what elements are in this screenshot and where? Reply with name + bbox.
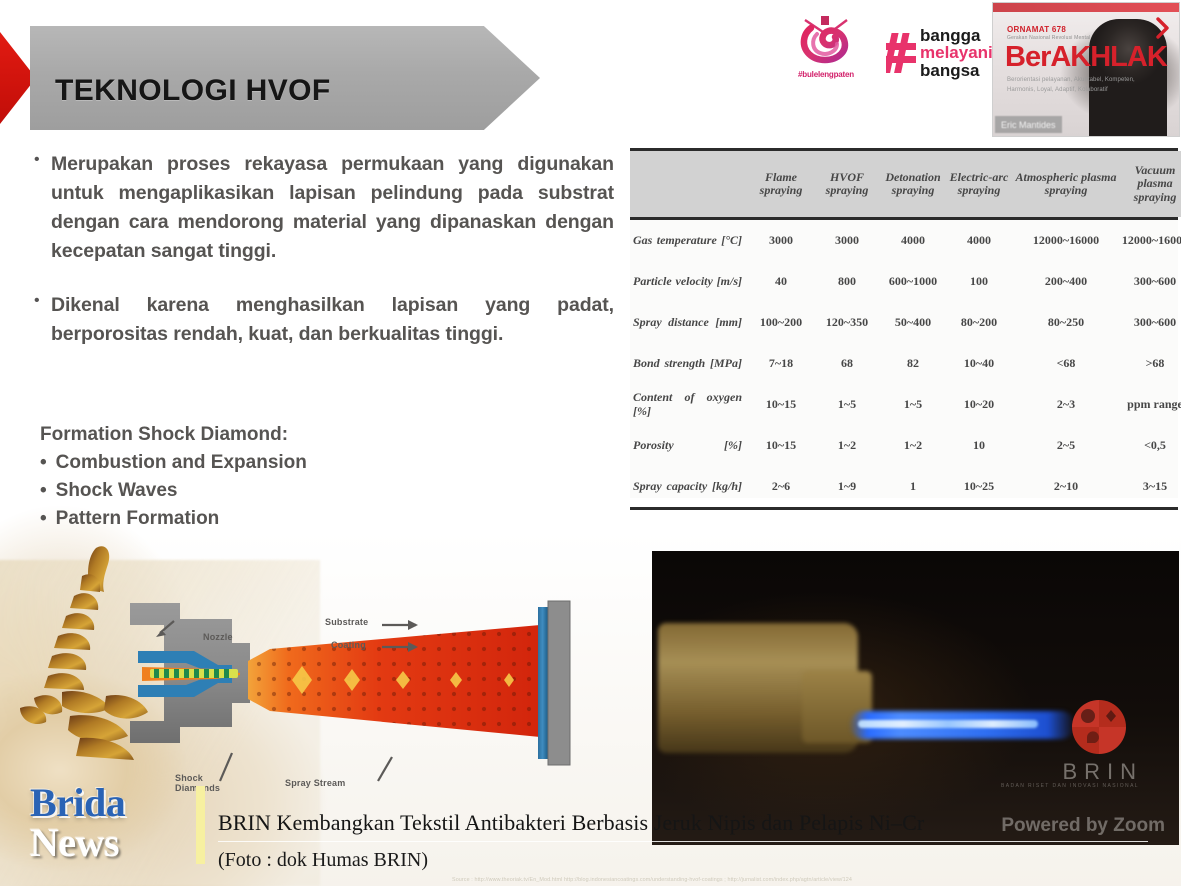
table-cell: 120~350 xyxy=(814,302,880,343)
page-title: TEKNOLOGI HVOF xyxy=(55,74,331,108)
table-header-row: Flame spraying HVOF spraying Detonation … xyxy=(630,151,1181,217)
shock-diamond-item: • Combustion and Expansion xyxy=(40,452,420,474)
table-row: Bond strength [MPa]7~18688210~40<68>68 xyxy=(630,343,1181,384)
col-header-blank xyxy=(630,151,748,217)
table-cell: 68 xyxy=(814,343,880,384)
table-cell: 4000 xyxy=(880,220,946,261)
table-cell: <68 xyxy=(1012,343,1120,384)
comparison-table: Flame spraying HVOF spraying Detonation … xyxy=(630,151,1181,217)
bangga-text-block: bangga melayani bangsa xyxy=(920,27,993,79)
col-header-detonation: Detonation spraying xyxy=(880,151,946,217)
brida-news-logo: Brida News xyxy=(30,784,190,864)
table-cell: 1~5 xyxy=(880,384,946,425)
col-header-atmospheric-plasma: Atmospheric plasma spraying xyxy=(1012,151,1120,217)
bullet-text: Merupakan proses rekayasa permukaan yang… xyxy=(51,150,614,265)
table-cell: 1~9 xyxy=(814,466,880,507)
bullet-item: • Dikenal karena menghasilkan lapisan ya… xyxy=(34,291,614,349)
table-cell: 10~20 xyxy=(946,384,1012,425)
table-cell: 2~5 xyxy=(1012,425,1120,466)
table-cell: 3000 xyxy=(748,220,814,261)
table-row-label: Bond strength [MPa] xyxy=(630,343,748,384)
table-cell: 10~25 xyxy=(946,466,1012,507)
berakhlak-headline: BerAKHLAK xyxy=(1005,41,1167,74)
shock-diamond-title: Formation Shock Diamond: xyxy=(40,424,420,446)
shock-diamond-item: • Pattern Formation xyxy=(40,508,420,530)
webcam-participant-name: Eric Mantides xyxy=(995,116,1062,133)
bullet-dot-icon: • xyxy=(40,480,47,502)
table-cell: 1~2 xyxy=(814,425,880,466)
table-cell: 80~200 xyxy=(946,302,1012,343)
bangga-line-2: melayani xyxy=(920,44,993,61)
table-cell: 2~10 xyxy=(1012,466,1120,507)
shock-diamond-item-label: Pattern Formation xyxy=(56,508,220,530)
table-body: Gas temperature [°C]30003000400040001200… xyxy=(630,220,1181,507)
table-cell: <0,5 xyxy=(1120,425,1181,466)
table-cell: 10~15 xyxy=(748,425,814,466)
comparison-table-body: Gas temperature [°C]30003000400040001200… xyxy=(630,220,1181,507)
caption-rule xyxy=(218,841,1148,842)
table-cell: 10~15 xyxy=(748,384,814,425)
slide-body-text: • Merupakan proses rekayasa permukaan ya… xyxy=(34,150,614,365)
table-cell: 10 xyxy=(946,425,1012,466)
table-cell: 300~600 xyxy=(1120,261,1181,302)
shock-diamond-item-label: Combustion and Expansion xyxy=(56,452,307,474)
table-bottom-rule xyxy=(630,507,1178,510)
hashtag-icon xyxy=(886,31,916,75)
diagram-label-coating: Coating xyxy=(331,641,366,651)
table-row-label: Content of oxygen [%] xyxy=(630,384,748,425)
table-row: Spray distance [mm]100~200120~35050~4008… xyxy=(630,302,1181,343)
table-cell: 50~400 xyxy=(880,302,946,343)
garuda-statue-decoration xyxy=(10,540,240,800)
table-row-label: Spray capacity [kg/h] xyxy=(630,466,748,507)
brida-logo-line-1: Brida xyxy=(30,784,190,822)
table-cell: 3~15 xyxy=(1120,466,1181,507)
table-row-label: Porosity [%] xyxy=(630,425,748,466)
table-row: Particle velocity [m/s]40800600~10001002… xyxy=(630,261,1181,302)
table-cell: 300~600 xyxy=(1120,302,1181,343)
buleleng-logo: #bulelengpaten xyxy=(780,12,872,92)
col-header-hvof: HVOF spraying xyxy=(814,151,880,217)
bullet-dot-icon: • xyxy=(40,508,47,530)
col-header-electric-arc: Electric-arc spraying xyxy=(946,151,1012,217)
table-cell: 12000~16000 xyxy=(1012,220,1120,261)
chevron-right-icon xyxy=(1155,17,1171,39)
table-cell: ppm range xyxy=(1120,384,1181,425)
spray-process-comparison-table: Flame spraying HVOF spraying Detonation … xyxy=(630,148,1178,498)
caption-photo-credit: (Foto : dok Humas BRIN) xyxy=(218,849,428,872)
caption-divider-bar xyxy=(196,786,205,864)
bullet-text: Dikenal karena menghasilkan lapisan yang… xyxy=(51,291,614,349)
table-cell: 1~5 xyxy=(814,384,880,425)
berakhlak-acronym-line-2: Harmonis, Loyal, Adaptif, Kolaboratif xyxy=(1007,85,1157,95)
bullet-dot-icon: • xyxy=(40,452,47,474)
webcam-top-red-bar xyxy=(993,3,1179,12)
table-cell: 100~200 xyxy=(748,302,814,343)
table-row: Porosity [%]10~151~21~2102~5<0,5 xyxy=(630,425,1181,466)
bullet-item: • Merupakan proses rekayasa permukaan ya… xyxy=(34,150,614,265)
table-row: Spray capacity [kg/h]2~61~9110~252~103~1… xyxy=(630,466,1181,507)
bullet-dot-icon: • xyxy=(34,150,42,265)
table-head: Flame spraying HVOF spraying Detonation … xyxy=(630,151,1181,217)
shock-diamond-block: Formation Shock Diamond: • Combustion an… xyxy=(40,424,420,536)
berakhlak-acronym-line-1: Berorientasi pelayanan, Akuntabel, Kompe… xyxy=(1007,75,1157,85)
caption-band: Brida News BRIN Kembangkan Tekstil Antib… xyxy=(0,780,1181,886)
berakhlak-acronym: Berorientasi pelayanan, Akuntabel, Kompe… xyxy=(1007,75,1157,95)
table-cell: 2~3 xyxy=(1012,384,1120,425)
table-cell: 1~2 xyxy=(880,425,946,466)
bangga-melayani-bangsa-logo: bangga melayani bangsa xyxy=(886,18,991,88)
slide-screenshot: TEKNOLOGI HVOF #bulelengpaten xyxy=(0,0,1181,886)
table-cell: 12000~16000 xyxy=(1120,220,1181,261)
table-cell: 40 xyxy=(748,261,814,302)
table-cell: 10~40 xyxy=(946,343,1012,384)
bangga-line-3: bangsa xyxy=(920,62,993,79)
col-header-flame: Flame spraying xyxy=(748,151,814,217)
table-cell: 82 xyxy=(880,343,946,384)
table-cell: >68 xyxy=(1120,343,1181,384)
buleleng-mark-icon xyxy=(787,12,865,68)
bangga-line-1: bangga xyxy=(920,27,993,44)
brin-logo-icon xyxy=(1071,699,1127,755)
table-cell: 80~250 xyxy=(1012,302,1120,343)
table-cell: 2~6 xyxy=(748,466,814,507)
table-cell: 800 xyxy=(814,261,880,302)
table-cell: 100 xyxy=(946,261,1012,302)
table-cell: 1 xyxy=(880,466,946,507)
shock-diamond-item: • Shock Waves xyxy=(40,480,420,502)
buleleng-hashtag: #bulelengpaten xyxy=(780,70,872,79)
table-cell: 7~18 xyxy=(748,343,814,384)
caption-headline: BRIN Kembangkan Tekstil Antibakteri Berb… xyxy=(218,810,1148,836)
table-cell: 4000 xyxy=(946,220,1012,261)
table-row-label: Gas temperature [°C] xyxy=(630,220,748,261)
table-row: Gas temperature [°C]30003000400040001200… xyxy=(630,220,1181,261)
plasma-flame-core xyxy=(858,720,1038,728)
col-header-vacuum-plasma: Vacuum plasma spraying xyxy=(1120,151,1181,217)
table-row: Content of oxygen [%]10~151~51~510~202~3… xyxy=(630,384,1181,425)
table-row-label: Spray distance [mm] xyxy=(630,302,748,343)
table-cell: 3000 xyxy=(814,220,880,261)
table-cell: 200~400 xyxy=(1012,261,1120,302)
diagram-label-substrate: Substrate xyxy=(325,618,368,628)
bullet-dot-icon: • xyxy=(34,291,42,349)
brida-logo-line-2: News xyxy=(30,824,190,862)
ornamat-label: ORNAMAT 678 xyxy=(1007,25,1066,34)
slide-header-banner: TEKNOLOGI HVOF xyxy=(0,26,600,130)
table-row-label: Particle velocity [m/s] xyxy=(630,261,748,302)
table-cell: 600~1000 xyxy=(880,261,946,302)
shock-diamond-item-label: Shock Waves xyxy=(56,480,178,502)
webcam-participant-tile[interactable]: ORNAMAT 678 Gerakan Nasional Revolusi Me… xyxy=(992,2,1180,137)
slide-source-line: Source : http://www.theoriak.tv/En_Mod.h… xyxy=(452,877,1172,883)
